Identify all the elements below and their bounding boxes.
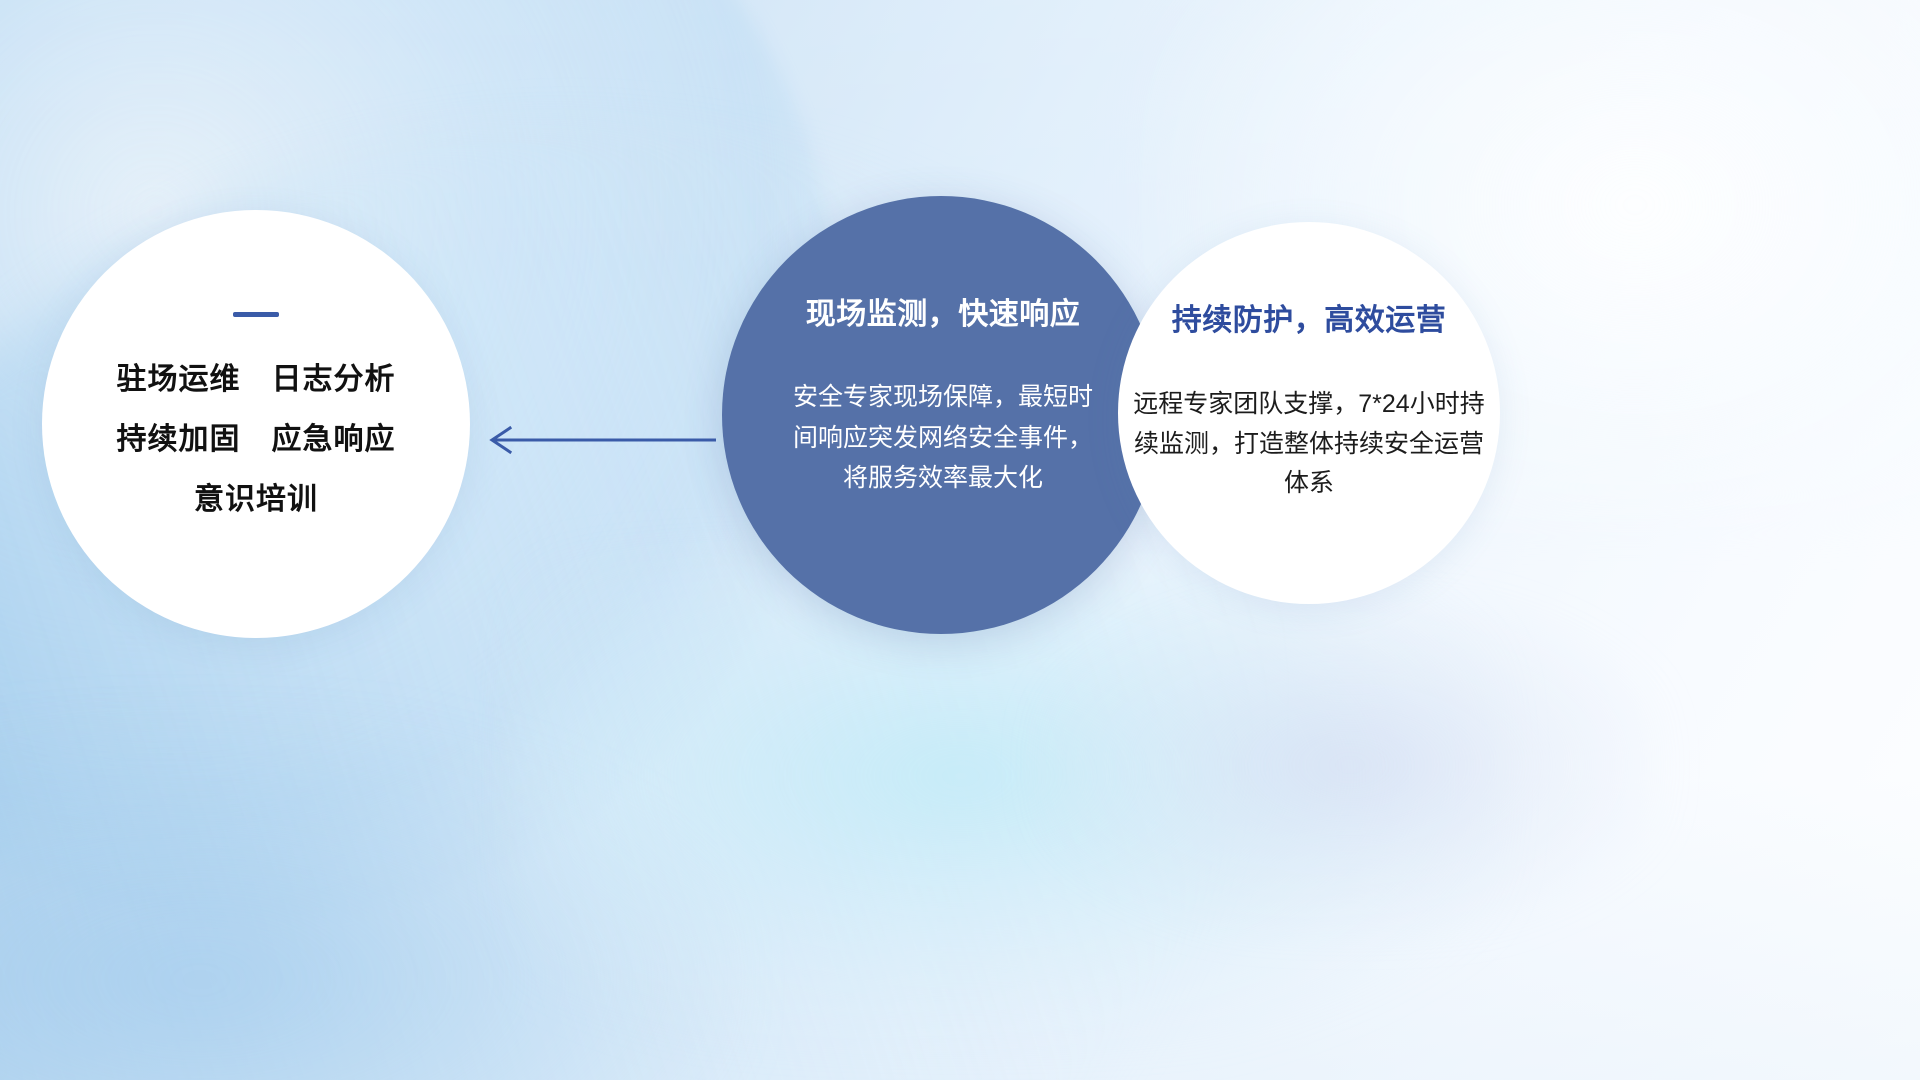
slide-canvas: 驻场运维 日志分析 持续加固 应急响应 意识培训 现场监测，快速响应 安全专家现…	[0, 0, 1920, 1080]
right-circle-content: 持续防护，高效运营 远程专家团队支撑，7*24小时持续监测，打造整体持续安全运营…	[1118, 222, 1500, 604]
middle-circle-content: 现场监测，快速响应 安全专家现场保障，最短时间响应突发网络安全事件，将服务效率最…	[748, 196, 1138, 634]
divider-dash	[233, 312, 279, 317]
right-circle-description: 远程专家团队支撑，7*24小时持续监测，打造整体持续安全运营体系	[1133, 385, 1485, 504]
right-circle-title: 持续防护，高效运营	[1172, 304, 1447, 337]
left-circle-content: 驻场运维 日志分析 持续加固 应急响应 意识培训	[42, 210, 470, 638]
left-circle-keyword-list: 驻场运维 日志分析 持续加固 应急响应 意识培训	[117, 365, 396, 515]
middle-circle-title: 现场监测，快速响应	[806, 298, 1081, 331]
left-circle-keyword-line: 意识培训	[117, 485, 396, 515]
left-circle-keyword-line: 驻场运维 日志分析	[117, 365, 396, 395]
left-circle-keyword-line: 持续加固 应急响应	[117, 425, 396, 455]
middle-circle-description: 安全专家现场保障，最短时间响应突发网络安全事件，将服务效率最大化	[793, 377, 1093, 499]
flow-arrow-icon	[480, 415, 720, 465]
